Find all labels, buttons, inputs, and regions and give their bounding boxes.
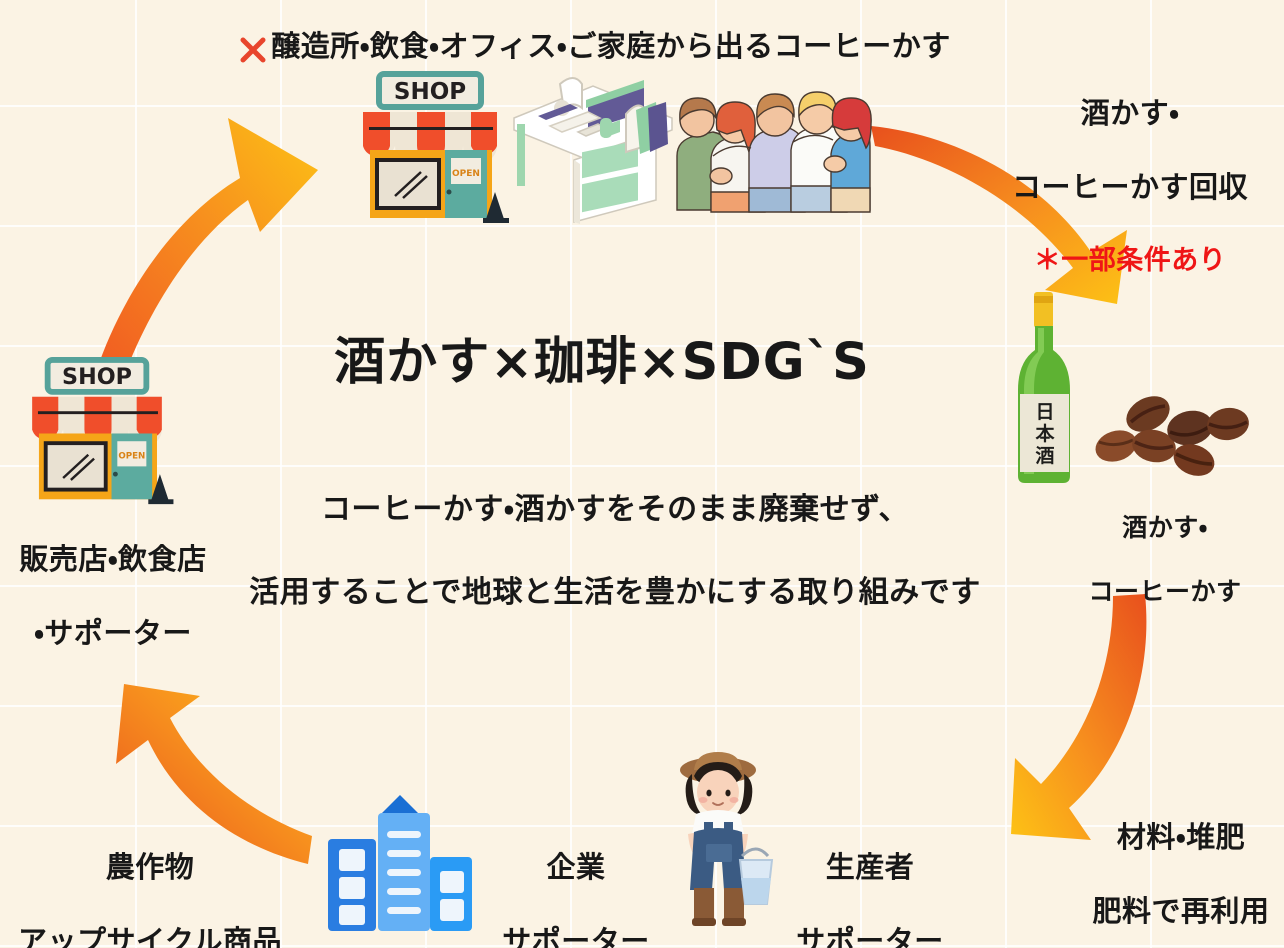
producer-label-line1: 生産者 bbox=[770, 849, 970, 886]
svg-text:SHOP: SHOP bbox=[62, 364, 132, 390]
collect-note: ＊一部条件あり bbox=[985, 244, 1275, 279]
page-title: 酒かす×珈琲×SDG`S bbox=[282, 330, 922, 395]
materials-label: 酒かす・ コーヒーかす bbox=[1055, 480, 1275, 640]
materials-label-line1: 酒かす・ bbox=[1055, 512, 1275, 544]
infographic-canvas: 醸造所・飲食・オフィス・ご家庭から出るコーヒーかす SHOP OPEN bbox=[0, 0, 1284, 948]
retail-label: 販売店・飲食店 ・サポーター bbox=[0, 504, 226, 690]
top-heading: 醸造所・飲食・オフィス・ご家庭から出るコーヒーかす bbox=[196, 28, 1026, 65]
office-desk-icon bbox=[508, 72, 678, 227]
svg-text:OPEN: OPEN bbox=[118, 452, 145, 462]
producer-label-line2: サポーター bbox=[770, 923, 970, 948]
company-label: 企業 サポーター bbox=[478, 812, 674, 948]
svg-text:本: 本 bbox=[1034, 422, 1055, 445]
subtitle-line1: コーヒーかす・酒かすをそのまま廃棄せず、 bbox=[185, 489, 1045, 530]
svg-text:日: 日 bbox=[1035, 401, 1054, 423]
reuse-label-line1: 材料・堆肥 bbox=[1078, 819, 1284, 856]
upcycle-label-line2: アップサイクル商品 bbox=[0, 923, 300, 948]
red-cross-mark-icon bbox=[239, 36, 267, 64]
upcycle-label: 農作物 アップサイクル商品 bbox=[0, 812, 300, 948]
company-label-line1: 企業 bbox=[478, 849, 674, 886]
company-label-line2: サポーター bbox=[478, 923, 674, 948]
page-subtitle: コーヒーかす・酒かすをそのまま廃棄せず、 活用することで地球と生活を豊かにする取… bbox=[185, 448, 1045, 655]
retail-label-line2: ・サポーター bbox=[0, 615, 226, 652]
svg-text:SHOP: SHOP bbox=[394, 79, 466, 105]
coffee-beans-icon bbox=[1090, 380, 1250, 490]
people-group-icon bbox=[665, 82, 870, 212]
materials-label-line2: コーヒーかす bbox=[1055, 576, 1275, 608]
reuse-label: 材料・堆肥 肥料で再利用 bbox=[1078, 782, 1284, 948]
storefront-icon-left: SHOP OPEN bbox=[12, 358, 182, 508]
producer-label: 生産者 サポーター bbox=[770, 812, 970, 948]
collect-label-line1: 酒かす・ bbox=[985, 95, 1275, 132]
subtitle-line2: 活用することで地球と生活を豊かにする取り組みです bbox=[185, 572, 1045, 613]
reuse-label-line2: 肥料で再利用 bbox=[1078, 893, 1284, 930]
collect-label-line2: コーヒーかす回収 bbox=[985, 169, 1275, 206]
storefront-icon: SHOP OPEN bbox=[345, 72, 515, 227]
upcycle-label-line1: 農作物 bbox=[0, 849, 300, 886]
retail-label-line1: 販売店・飲食店 bbox=[0, 541, 226, 578]
collect-label: 酒かす・ コーヒーかす回収 ＊一部条件あり bbox=[985, 58, 1275, 315]
svg-text:OPEN: OPEN bbox=[452, 169, 480, 179]
office-building-icon bbox=[322, 793, 478, 938]
